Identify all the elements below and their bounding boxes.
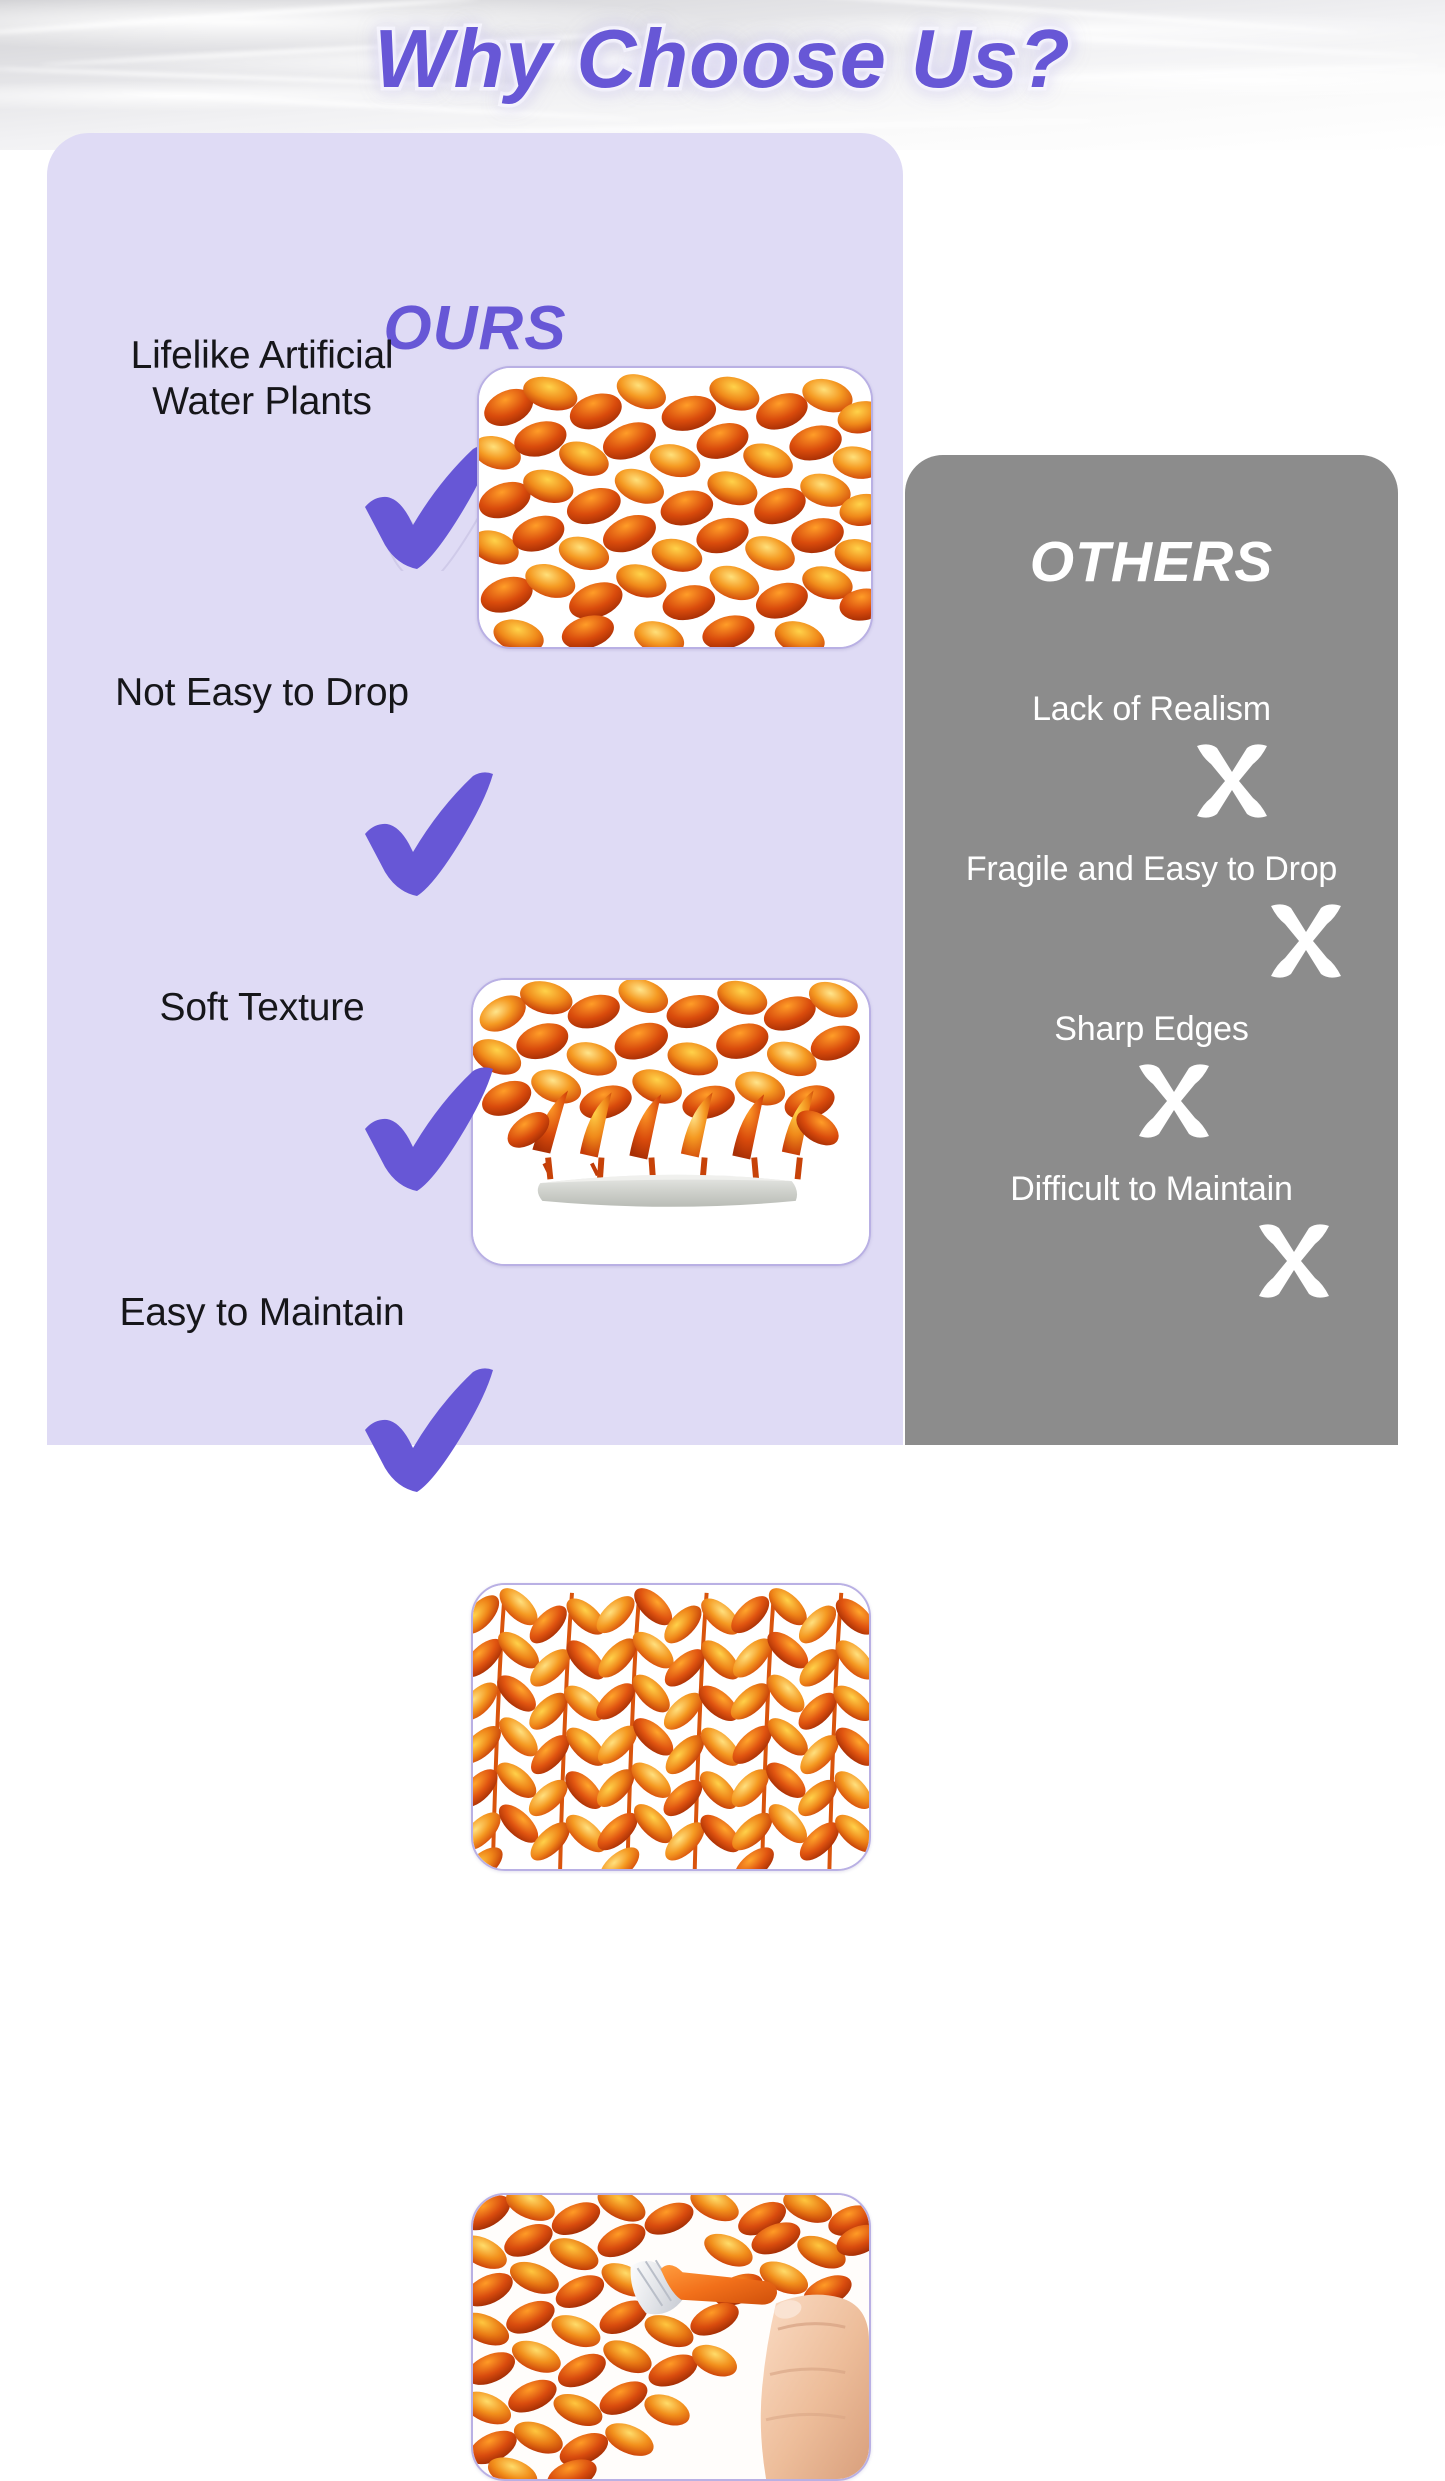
product-photo-card: [471, 1583, 871, 1871]
others-panel: OTHERS Lack of Realism Fragile and Easy …: [905, 455, 1398, 1445]
ours-row: Lifelike ArtificialWater Plants: [47, 251, 903, 555]
cross-icon: [1265, 902, 1347, 980]
cross-icon: [1133, 1062, 1215, 1140]
cross-icon: [1191, 742, 1273, 820]
ours-feature-label: Easy to Maintain: [67, 1290, 457, 1336]
ours-panel: OURS Lifelike ArtificialWater Plants: [47, 133, 903, 1445]
others-con-label: Lack of Realism: [905, 690, 1398, 729]
others-con-label: Difficult to Maintain: [905, 1170, 1398, 1209]
ours-feature-label: Lifelike ArtificialWater Plants: [67, 333, 457, 425]
ours-row: Not Easy to Drop: [47, 558, 903, 861]
cross-icon: [1253, 1222, 1335, 1300]
check-icon: [347, 1364, 507, 1494]
ours-row: Easy to Maintain: [47, 1168, 903, 1468]
ours-feature-label: Soft Texture: [67, 985, 457, 1031]
ours-row: Soft Texture: [47, 863, 903, 1166]
others-con-label: Sharp Edges: [905, 1010, 1398, 1049]
others-heading: OTHERS: [905, 529, 1398, 595]
others-con-label: Fragile and Easy to Drop: [905, 850, 1398, 889]
ours-feature-label: Not Easy to Drop: [67, 670, 457, 716]
page-title: Why Choose Us?: [0, 11, 1445, 107]
product-photo-card: [471, 2193, 871, 2481]
